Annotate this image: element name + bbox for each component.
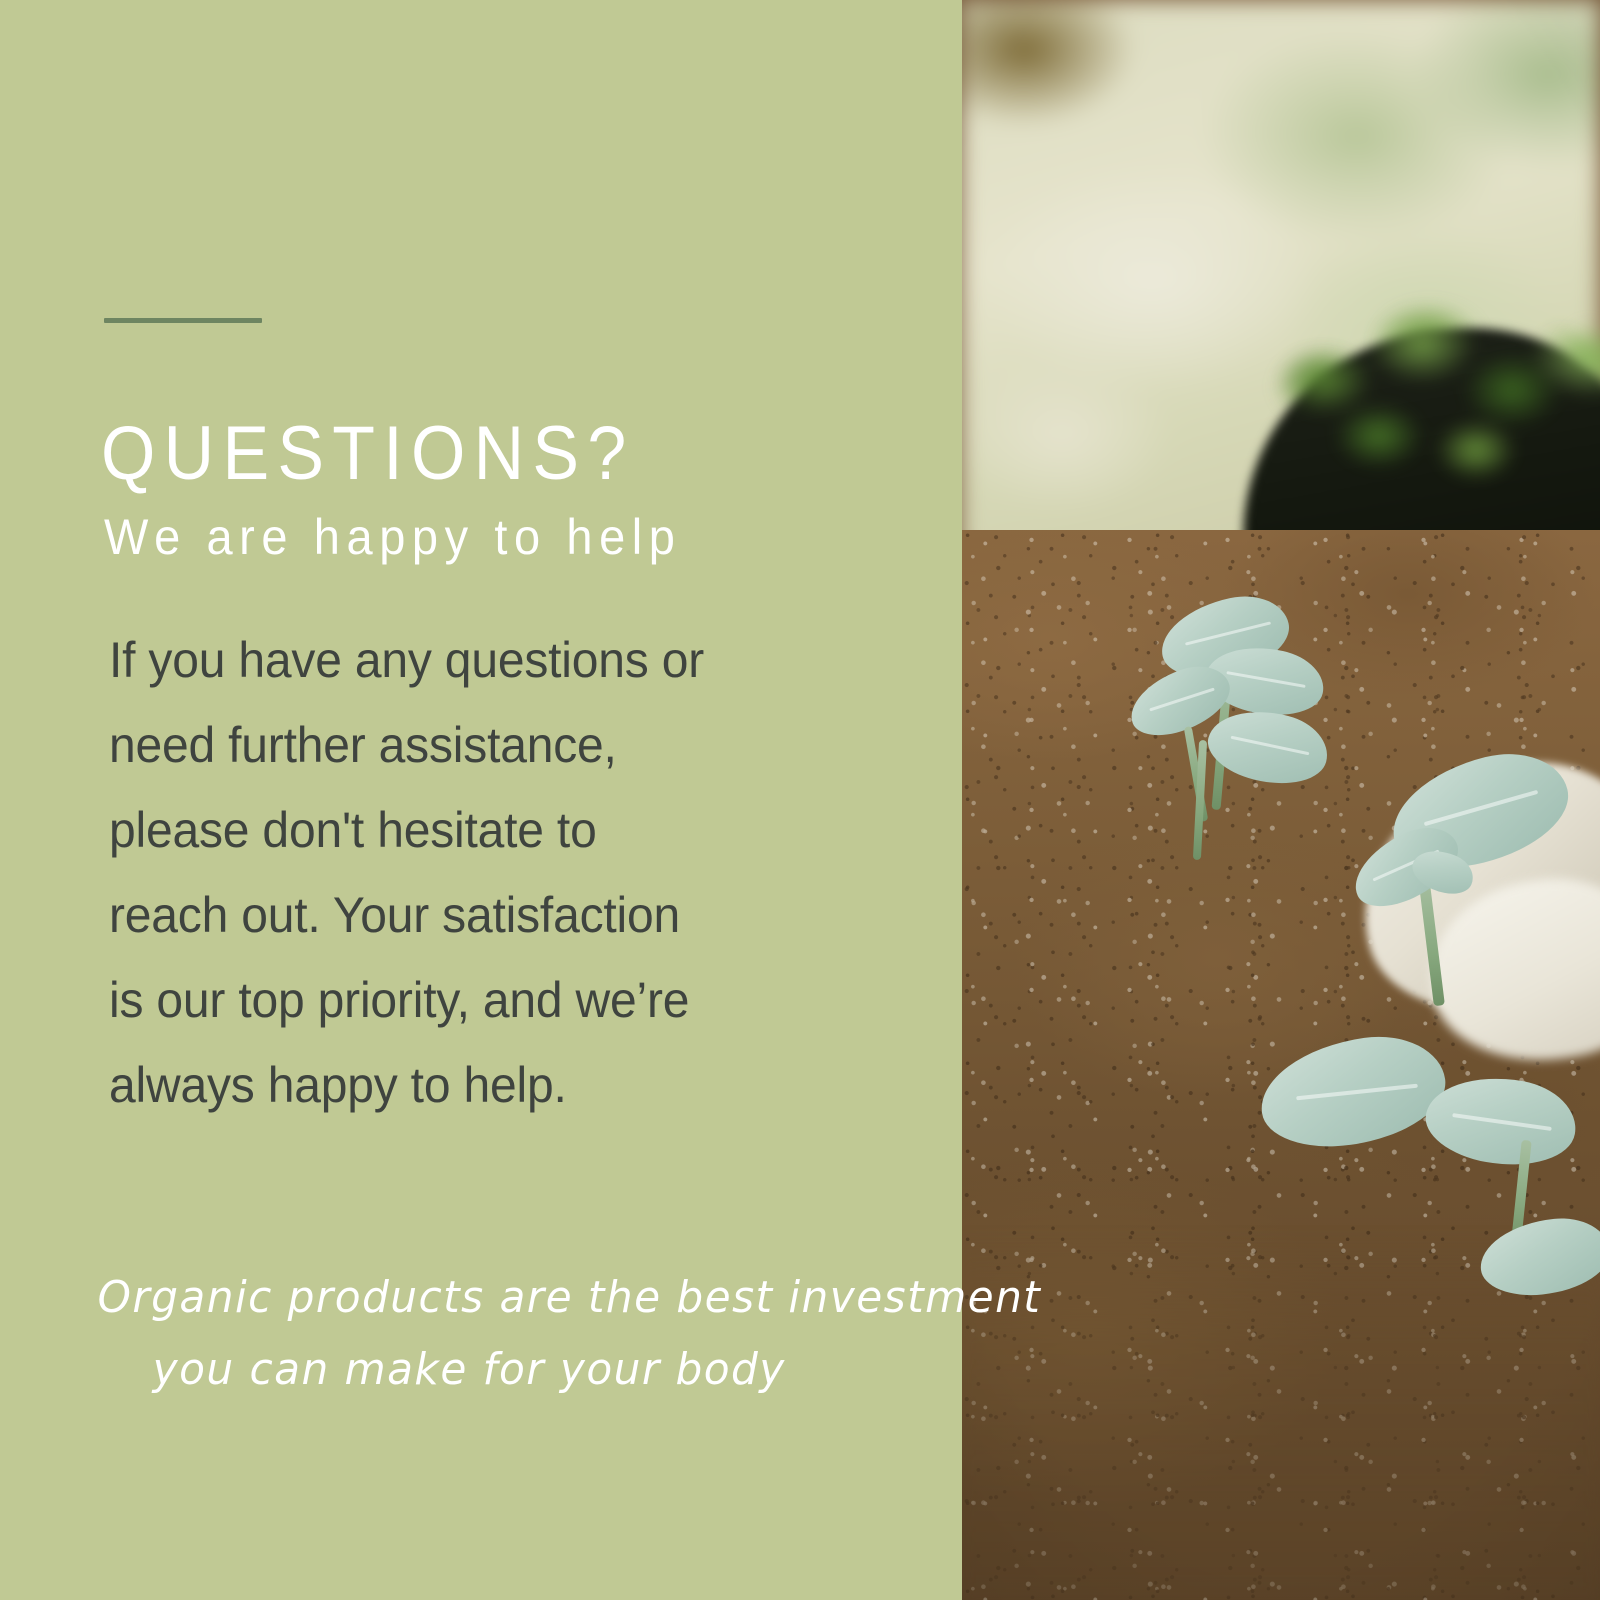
decorative-rule	[104, 318, 262, 323]
page-title: QUESTIONS?	[101, 411, 634, 497]
body-paragraph: If you have any questions or need furthe…	[109, 618, 819, 1128]
tray-foliage-front	[1260, 300, 1600, 500]
body-line: please don't hesitate to	[109, 788, 819, 873]
body-line: need further assistance,	[109, 703, 819, 788]
body-line: reach out. Your satisfaction	[109, 873, 819, 958]
poster-canvas: QUESTIONS? We are happy to help If you h…	[0, 0, 1600, 1600]
page-subtitle: We are happy to help	[104, 506, 682, 568]
body-line: is our top priority, and we’re	[109, 958, 819, 1043]
tagline-line: you can make for your body	[90, 1334, 848, 1406]
body-line: If you have any questions or	[109, 618, 819, 703]
tagline-line: Organic products are the best investment	[90, 1262, 848, 1334]
garden-seedlings-photo	[960, 0, 1600, 1600]
content-panel: QUESTIONS? We are happy to help If you h…	[0, 0, 962, 1600]
body-line: always happy to help.	[109, 1043, 819, 1128]
tagline-script: Organic products are the best investment…	[90, 1262, 848, 1406]
